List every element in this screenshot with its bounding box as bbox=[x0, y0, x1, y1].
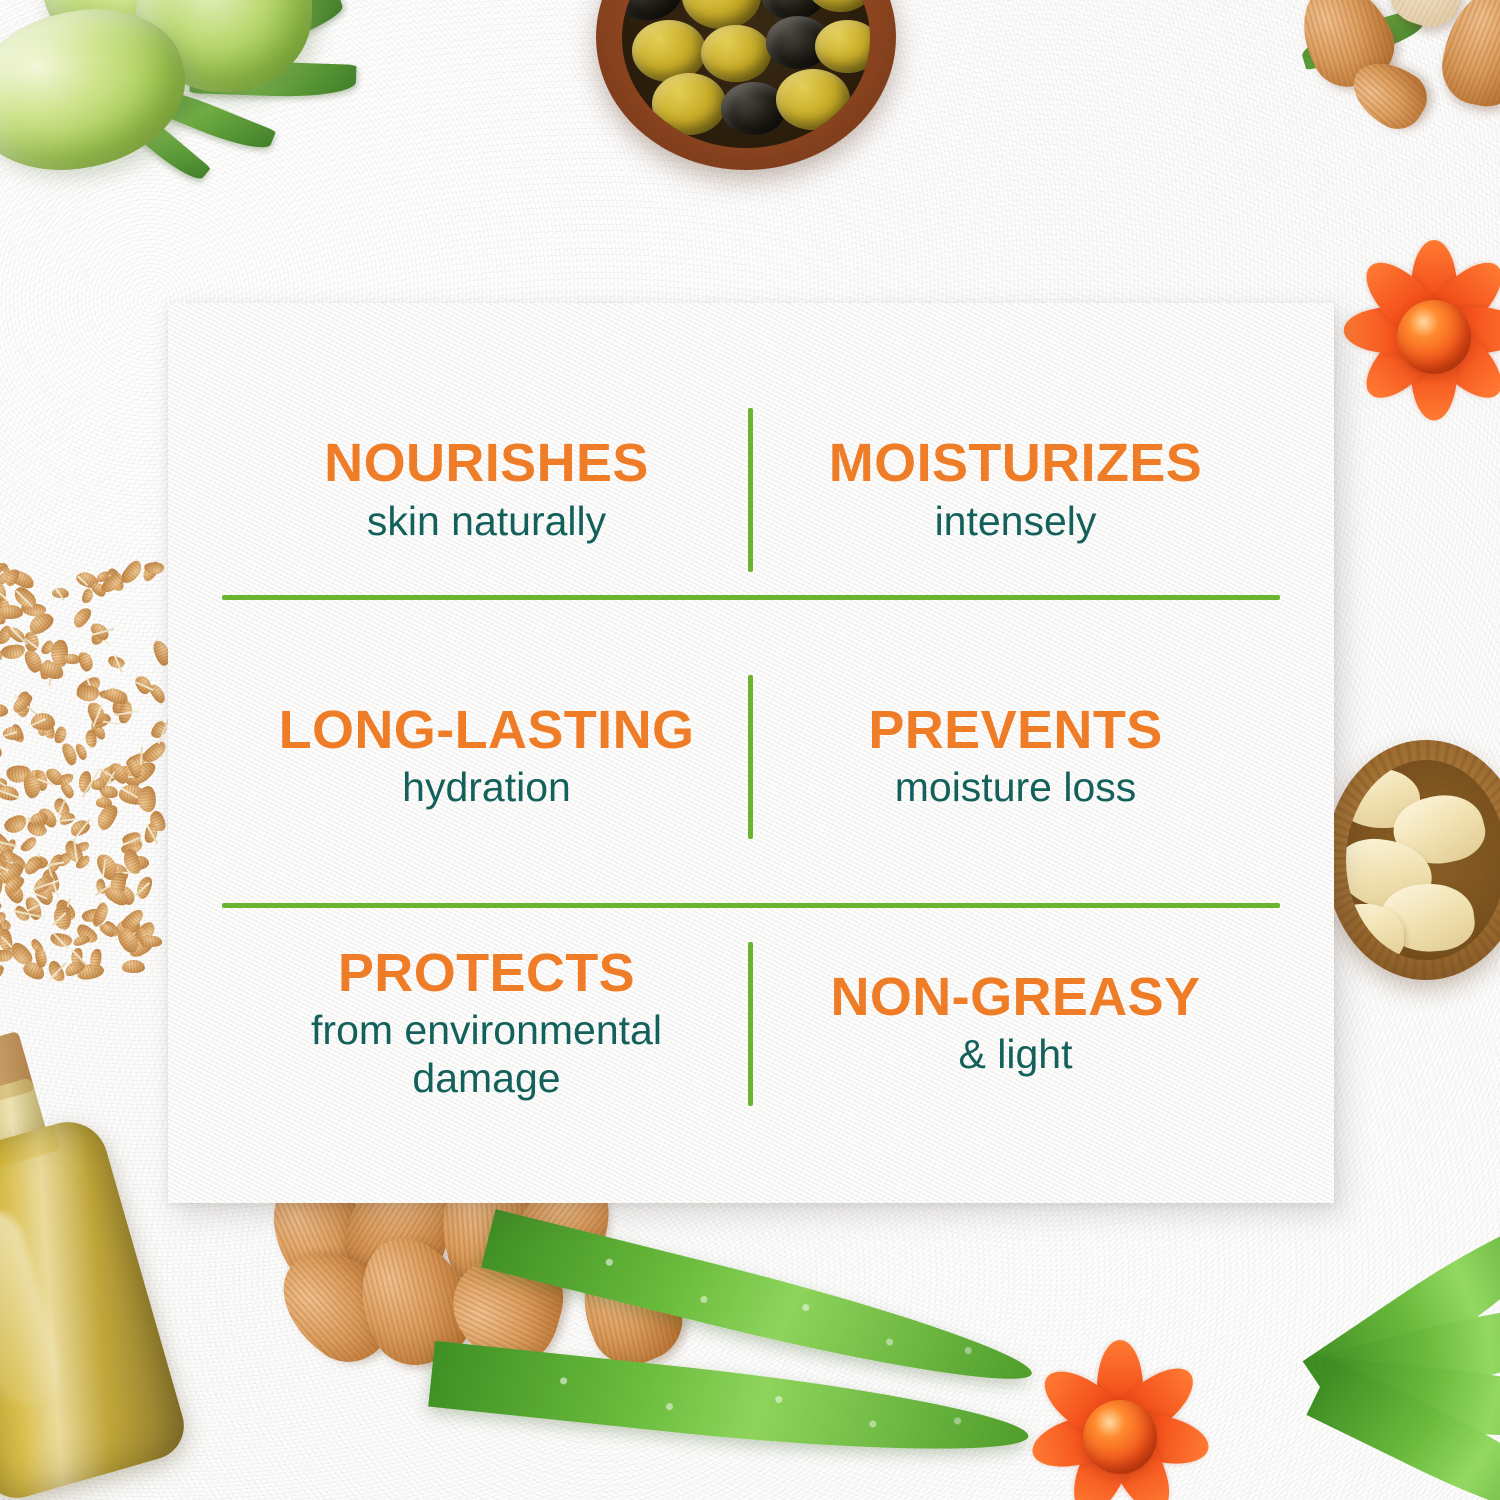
physalis-fruit-image bbox=[1334, 230, 1500, 430]
benefit-cell-protects: PROTECTS from environmental damage bbox=[222, 890, 751, 1157]
wheat-grain bbox=[77, 650, 96, 673]
infographic-canvas: NOURISHES skin naturally MOISTURIZES int… bbox=[0, 0, 1500, 1500]
bowl-of-olives-image bbox=[596, 0, 896, 170]
benefit-headline: NON-GREASY bbox=[830, 969, 1200, 1025]
green-olive bbox=[815, 20, 870, 73]
benefit-subtext: intensely bbox=[935, 498, 1097, 546]
benefit-subtext: hydration bbox=[402, 764, 571, 812]
physalis-berry bbox=[1397, 300, 1471, 374]
sprouted-wheat-germ-image bbox=[0, 568, 154, 968]
benefit-subtext: skin naturally bbox=[367, 498, 606, 546]
benefit-headline: PREVENTS bbox=[868, 702, 1162, 758]
wheat-grain bbox=[0, 703, 8, 716]
wheat-grain bbox=[101, 784, 120, 798]
aloe-vera-fan-image bbox=[1260, 1236, 1500, 1500]
wheat-grain bbox=[64, 653, 80, 664]
wheat-grain bbox=[59, 780, 77, 800]
black-olive bbox=[622, 0, 682, 20]
benefit-cell-long-lasting: LONG-LASTING hydration bbox=[222, 624, 751, 891]
benefit-cell-prevents: PREVENTS moisture loss bbox=[751, 624, 1280, 891]
benefit-cell-nourishes: NOURISHES skin naturally bbox=[222, 357, 751, 624]
benefit-cell-non-greasy: NON-GREASY & light bbox=[751, 890, 1280, 1157]
green-olive bbox=[652, 73, 726, 135]
wheat-grain bbox=[19, 836, 39, 855]
green-olive bbox=[776, 69, 850, 131]
wheat-grain bbox=[143, 935, 162, 946]
physalis-fruit-image bbox=[1020, 1330, 1220, 1500]
wheat-grain bbox=[72, 934, 91, 948]
wheat-grain bbox=[122, 960, 145, 973]
benefit-subtext: from environmental damage bbox=[252, 1007, 722, 1102]
wheat-grain bbox=[0, 643, 26, 660]
wheat-grain bbox=[2, 812, 30, 836]
black-olive bbox=[721, 82, 785, 135]
benefit-subtext: moisture loss bbox=[895, 764, 1137, 812]
physalis-berry bbox=[1083, 1400, 1157, 1474]
benefit-headline: MOISTURIZES bbox=[829, 435, 1202, 491]
green-olive bbox=[682, 0, 761, 29]
green-olive bbox=[701, 25, 770, 82]
benefit-headline: NOURISHES bbox=[324, 435, 649, 491]
wheat-grain bbox=[0, 950, 13, 963]
bowl-interior bbox=[1346, 760, 1500, 960]
horizontal-divider bbox=[222, 903, 1280, 908]
benefits-card: NOURISHES skin naturally MOISTURIZES int… bbox=[168, 303, 1334, 1203]
benefit-subtext: & light bbox=[959, 1031, 1073, 1079]
benefit-cell-moisturizes: MOISTURIZES intensely bbox=[751, 357, 1280, 624]
green-olives-with-leaves-image bbox=[0, 0, 350, 204]
benefit-headline: LONG-LASTING bbox=[279, 702, 695, 758]
benefit-headline: PROTECTS bbox=[338, 945, 635, 1001]
wheat-grain bbox=[102, 685, 129, 705]
horizontal-divider bbox=[222, 595, 1280, 600]
wheat-grain bbox=[0, 738, 4, 761]
almonds-with-leaves-image bbox=[1298, 0, 1500, 150]
shea-butter-bowl-image bbox=[1326, 740, 1500, 980]
